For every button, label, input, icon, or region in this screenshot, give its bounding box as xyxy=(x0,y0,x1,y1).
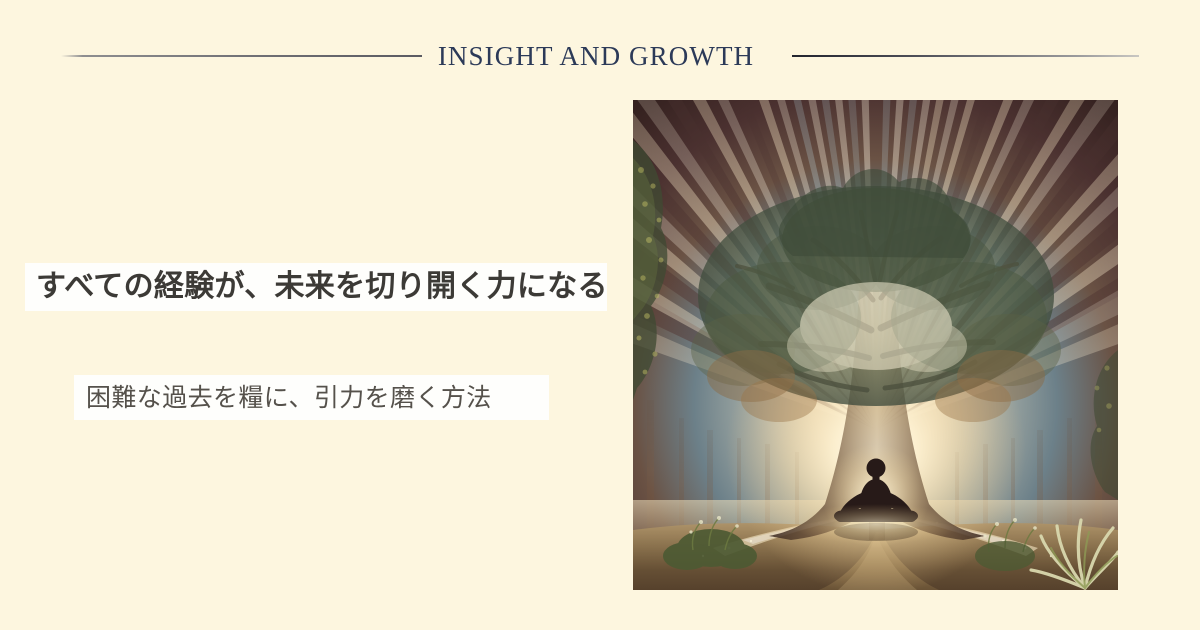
subheadline-band: 困難な過去を糧に、引力を磨く方法 xyxy=(74,375,549,420)
eyebrow-header: INSIGHT AND GROWTH xyxy=(0,32,1200,80)
hero-artwork xyxy=(633,100,1118,590)
meditation-tree-illustration xyxy=(633,100,1118,590)
headline-band: すべての経験が、未来を切り開く力になる xyxy=(25,263,607,311)
divider-line-left xyxy=(61,55,422,57)
divider-line-right xyxy=(792,55,1139,57)
eyebrow-label: INSIGHT AND GROWTH xyxy=(438,43,754,70)
poster-canvas: INSIGHT AND GROWTH すべての経験が、未来を切り開く力になる 困… xyxy=(0,0,1200,630)
page-title: すべての経験が、未来を切り開く力になる xyxy=(25,272,608,302)
page-subtitle: 困難な過去を糧に、引力を磨く方法 xyxy=(74,385,492,410)
